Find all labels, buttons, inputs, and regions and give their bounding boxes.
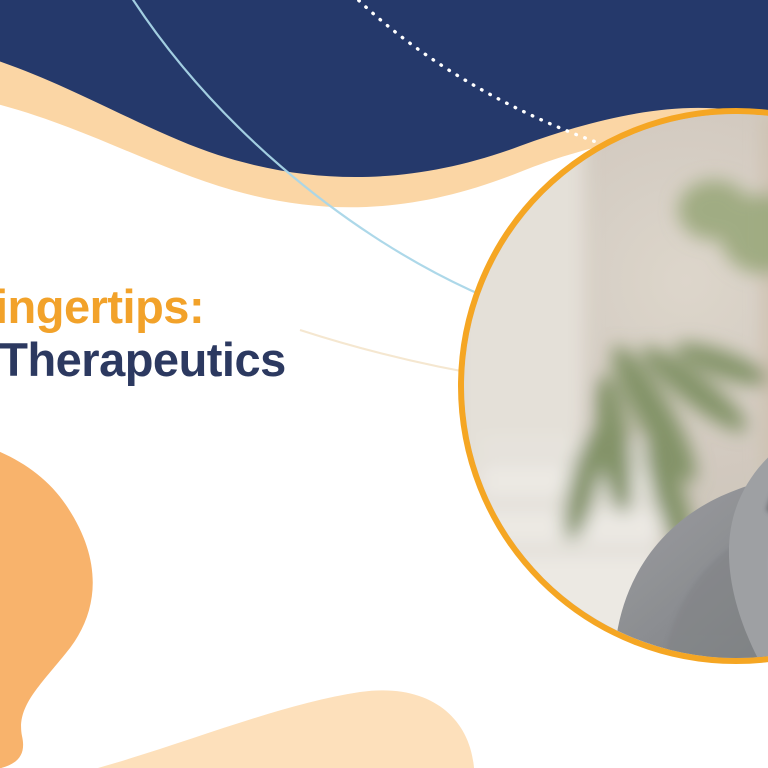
headline-line-2: igital Therapeutics xyxy=(0,336,540,383)
orange-blob-left xyxy=(0,430,93,768)
headline-line-3: in xyxy=(0,388,540,435)
headline-line-1: our Fingertips: xyxy=(0,283,540,330)
peach-wave-bottom xyxy=(98,690,474,768)
page-title: our Fingertips: igital Therapeutics in xyxy=(0,283,540,435)
poster-canvas: our Fingertips: igital Therapeutics in t xyxy=(0,0,768,768)
